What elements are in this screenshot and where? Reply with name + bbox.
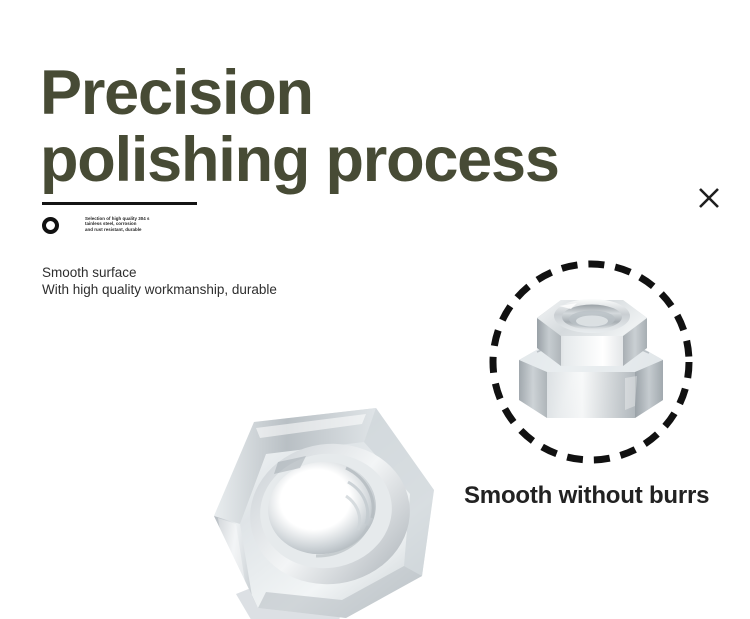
subtitle-line-1: Smooth surface [42,264,277,281]
callout-detail [489,260,693,464]
subtitle-block: Smooth surface With high quality workman… [42,264,277,298]
close-icon [696,185,722,211]
hero-nut-image [196,398,466,619]
headline-line-2: polishing process [40,129,660,192]
dashed-circle-icon [489,260,693,464]
headline-line-1: Precision [40,62,660,125]
feature-bullet-line-3: and rust resistant, durable [85,227,150,232]
close-button[interactable] [694,183,724,213]
subtitle-line-2: With high quality workmanship, durable [42,281,277,298]
page-title: Precision polishing process [40,62,660,192]
feature-bullet: Selection of high quality 304 s tainless… [42,216,150,234]
feature-bullet-text: Selection of high quality 304 s tainless… [85,216,150,232]
title-divider [42,202,197,205]
ring-bullet-icon [42,217,59,234]
product-feature-banner: Precision polishing process Selection of… [0,0,750,619]
callout-caption: Smooth without burrs [464,482,709,510]
